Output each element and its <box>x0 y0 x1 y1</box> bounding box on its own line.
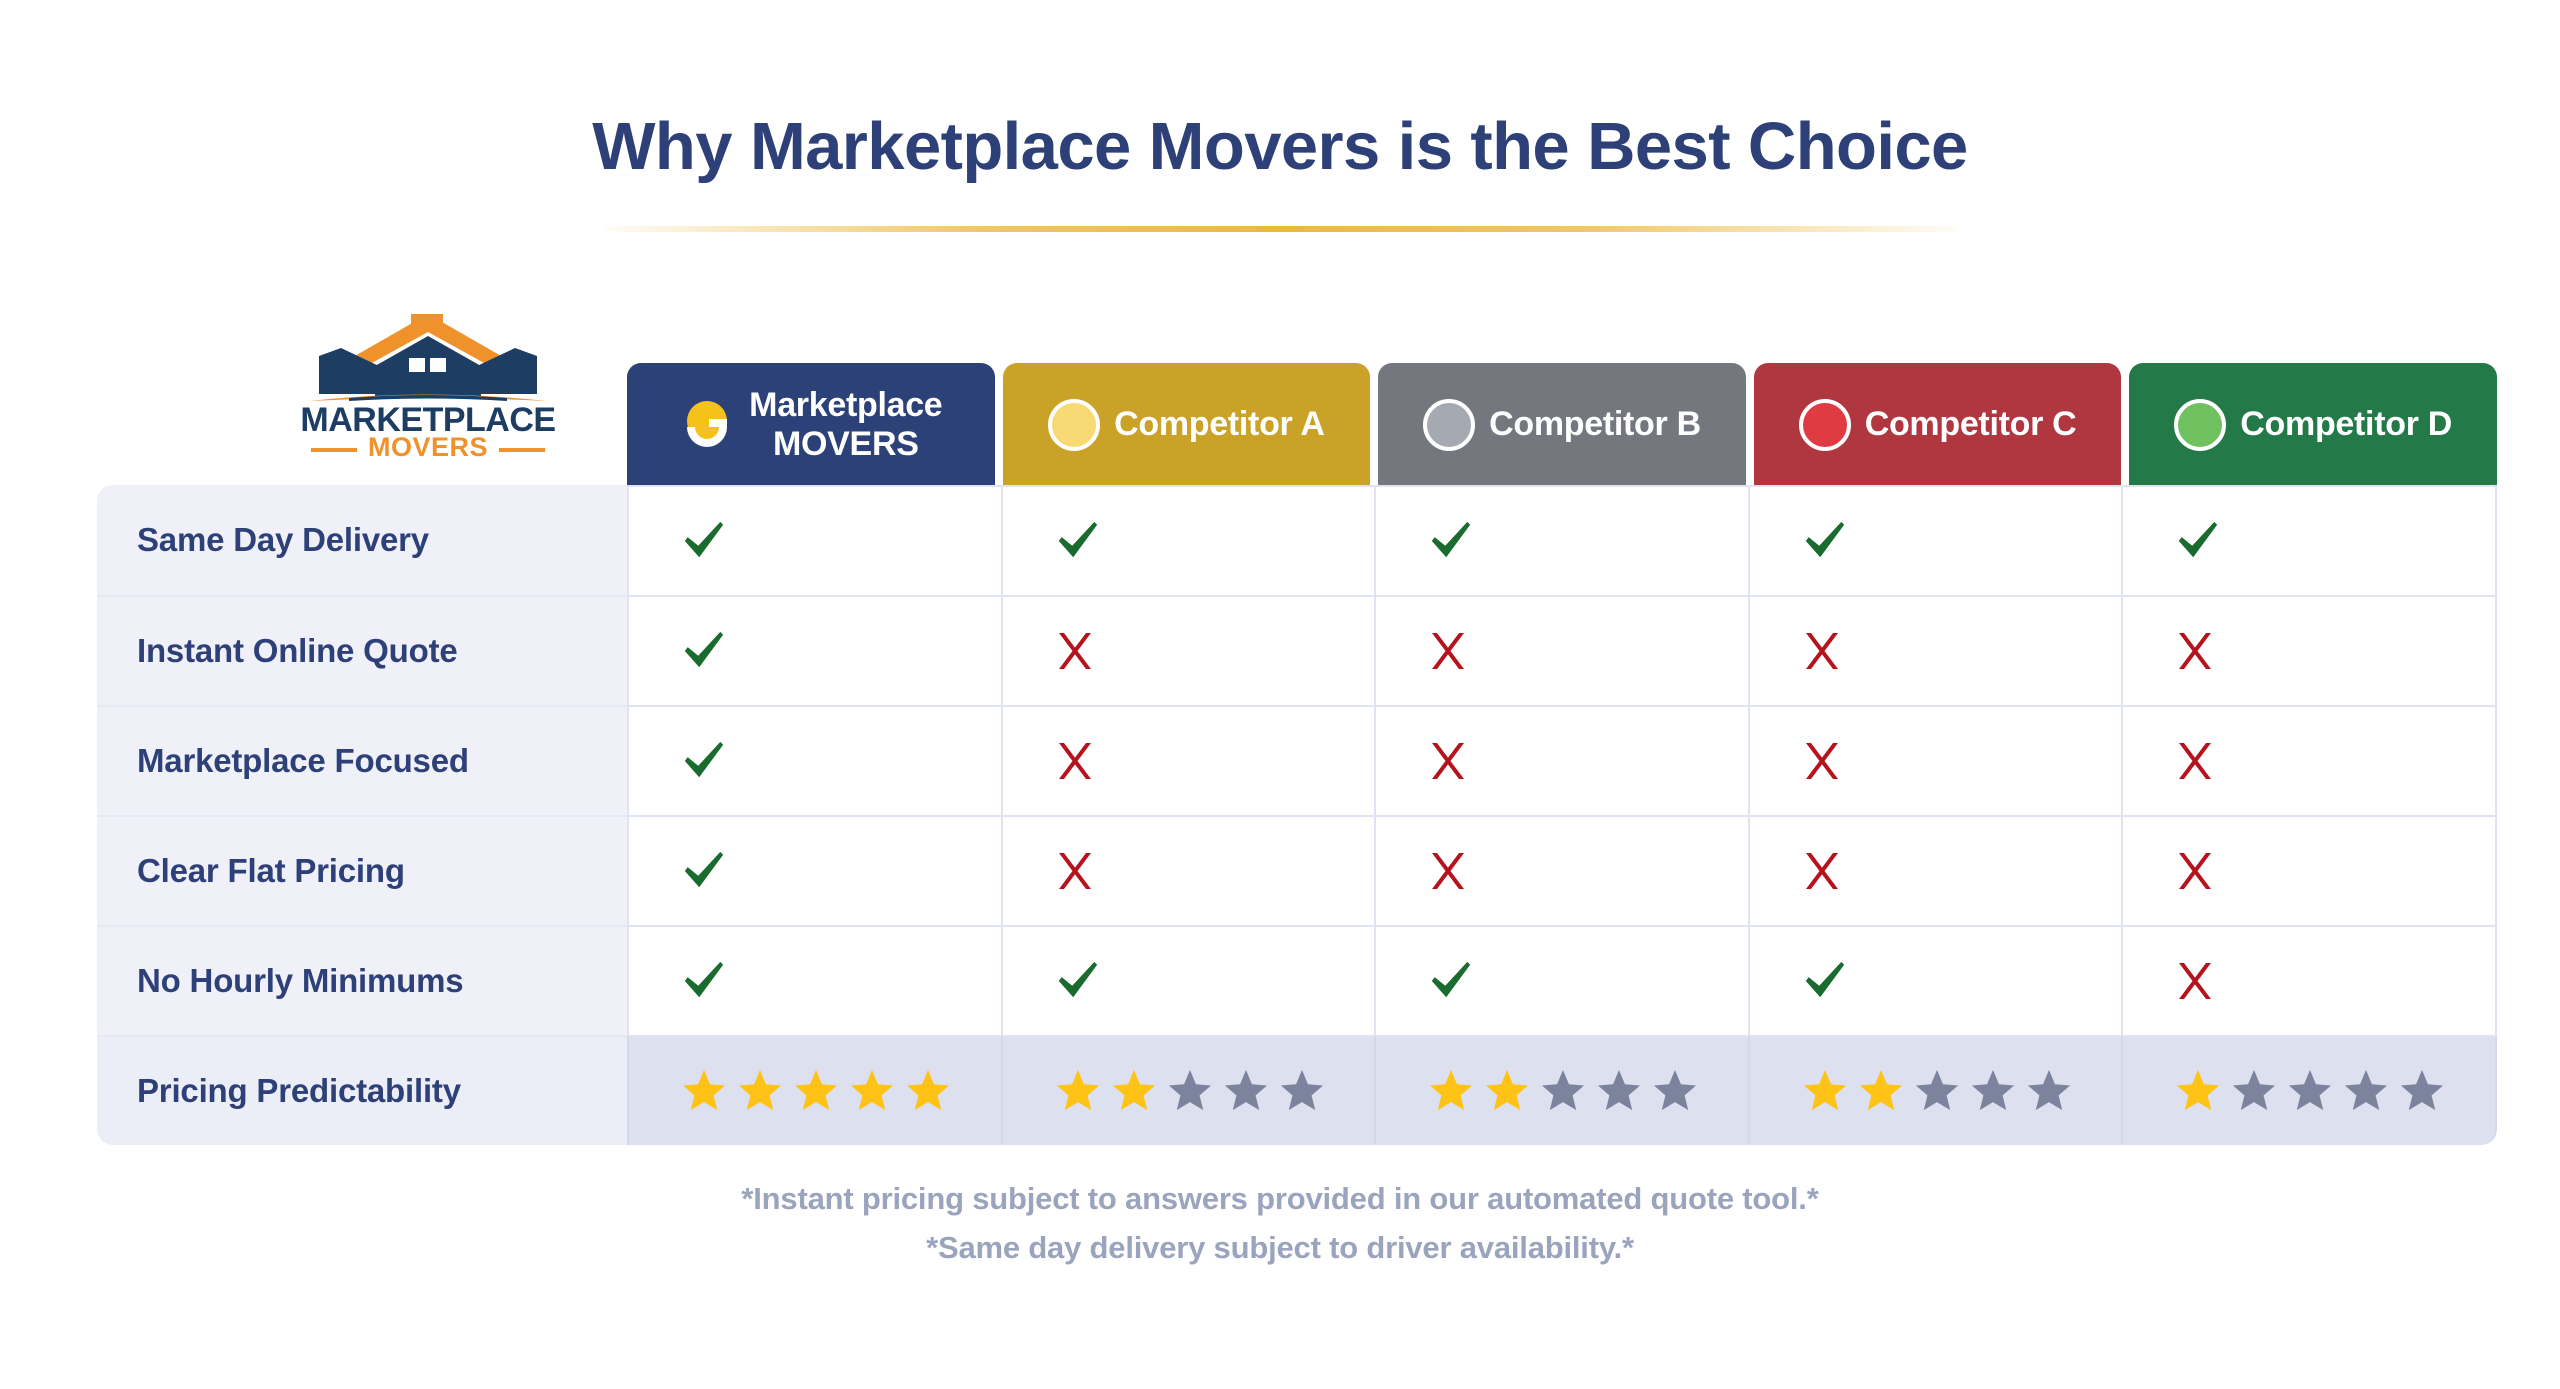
row-cells <box>627 595 2497 705</box>
title-underline-rule <box>603 226 1958 232</box>
star-icon <box>1484 1068 1530 1114</box>
table-row: Clear Flat Pricing <box>97 815 2497 925</box>
cross-icon <box>1428 851 1468 891</box>
row-cells <box>627 705 2497 815</box>
cross-icon <box>1428 741 1468 781</box>
star-icon <box>1540 1068 1586 1114</box>
star-icon <box>1167 1068 1213 1114</box>
cell-marketplace-focused-competitor-d <box>2121 705 2497 815</box>
star-icon <box>1858 1068 1904 1114</box>
row-label-cell-pricing-predictability: Pricing Predictability <box>97 1035 627 1145</box>
check-icon <box>1802 958 1848 1004</box>
row-label-cell-marketplace-focused: Marketplace Focused <box>97 705 627 815</box>
cross-icon <box>1802 741 1842 781</box>
star-icon <box>2343 1068 2389 1114</box>
star-icon <box>2399 1068 2445 1114</box>
table-row: Instant Online Quote <box>97 595 2497 705</box>
comparison-column-headers: MarketplaceMOVERSCompetitor ACompetitor … <box>627 363 2497 486</box>
cross-icon <box>2175 631 2215 671</box>
cell-marketplace-focused-marketplace-movers <box>627 705 1001 815</box>
row-label-cell-clear-flat-pricing: Clear Flat Pricing <box>97 815 627 925</box>
cross-icon <box>1055 631 1095 671</box>
row-label: Same Day Delivery <box>137 521 429 559</box>
star-icon <box>905 1068 951 1114</box>
footnote-delivery: *Same day delivery subject to driver ava… <box>0 1224 2560 1273</box>
cell-pricing-predictability-marketplace-movers <box>627 1035 1001 1145</box>
star-icon <box>1802 1068 1848 1114</box>
column-header-competitor-c[interactable]: Competitor C <box>1754 363 2122 486</box>
column-header-competitor-d[interactable]: Competitor D <box>2129 363 2497 486</box>
star-rating <box>1428 1068 1698 1114</box>
cell-same-day-delivery-competitor-b <box>1374 485 1748 595</box>
cell-no-hourly-minimums-competitor-b <box>1374 925 1748 1035</box>
check-icon <box>1802 518 1848 564</box>
check-icon <box>1055 958 1101 1004</box>
check-icon <box>681 958 727 1004</box>
row-label: Instant Online Quote <box>137 632 458 670</box>
check-icon <box>1428 518 1474 564</box>
cell-clear-flat-pricing-competitor-d <box>2121 815 2497 925</box>
svg-text:MOVERS: MOVERS <box>368 432 488 460</box>
column-header-label: Competitor B <box>1489 405 1701 443</box>
column-header-label-line1: Marketplace <box>749 386 942 424</box>
star-icon <box>1055 1068 1101 1114</box>
star-icon <box>1914 1068 1960 1114</box>
star-icon <box>2287 1068 2333 1114</box>
check-icon <box>681 848 727 894</box>
column-header-marketplace-movers[interactable]: MarketplaceMOVERS <box>627 363 995 486</box>
column-header-label: Competitor D <box>2240 405 2452 443</box>
cell-instant-online-quote-marketplace-movers <box>627 595 1001 705</box>
check-icon <box>1055 518 1101 564</box>
table-row: Marketplace Focused <box>97 705 2497 815</box>
cell-same-day-delivery-marketplace-movers <box>627 485 1001 595</box>
star-rating <box>681 1068 951 1114</box>
cell-pricing-predictability-competitor-d <box>2121 1035 2497 1145</box>
row-label-cell-instant-online-quote: Instant Online Quote <box>97 595 627 705</box>
house-logo-icon: MARKETPLACE MOVERS <box>283 300 573 460</box>
cross-icon <box>2175 741 2215 781</box>
cell-same-day-delivery-competitor-a <box>1001 485 1375 595</box>
star-icon <box>793 1068 839 1114</box>
cell-marketplace-focused-competitor-b <box>1374 705 1748 815</box>
star-icon <box>1111 1068 1157 1114</box>
column-header-competitor-b[interactable]: Competitor B <box>1378 363 1746 486</box>
row-label: Pricing Predictability <box>137 1072 461 1110</box>
circle-icon <box>2174 399 2226 451</box>
star-icon <box>1652 1068 1698 1114</box>
cell-pricing-predictability-competitor-a <box>1001 1035 1375 1145</box>
column-header-competitor-a[interactable]: Competitor A <box>1003 363 1371 486</box>
row-label-cell-no-hourly-minimums: No Hourly Minimums <box>97 925 627 1035</box>
circle-icon <box>1048 399 1100 451</box>
cell-instant-online-quote-competitor-c <box>1748 595 2122 705</box>
star-icon <box>2026 1068 2072 1114</box>
star-rating <box>1802 1068 2072 1114</box>
cell-clear-flat-pricing-marketplace-movers <box>627 815 1001 925</box>
cross-icon <box>1055 741 1095 781</box>
star-icon <box>2231 1068 2277 1114</box>
column-header-label: Competitor A <box>1114 405 1324 443</box>
star-icon <box>849 1068 895 1114</box>
row-cells <box>627 485 2497 595</box>
star-icon <box>681 1068 727 1114</box>
marketplace-movers-logo: MARKETPLACE MOVERS <box>283 300 573 460</box>
footnote-pricing: *Instant pricing subject to answers prov… <box>0 1175 2560 1224</box>
check-icon <box>681 738 727 784</box>
cross-icon <box>1055 851 1095 891</box>
row-cells <box>627 1035 2497 1145</box>
cross-icon <box>1802 631 1842 671</box>
footnotes: *Instant pricing subject to answers prov… <box>0 1175 2560 1273</box>
comparison-infographic: Why Marketplace Movers is the Best Choic… <box>0 0 2560 1389</box>
column-header-label: MarketplaceMOVERS <box>749 386 942 462</box>
star-icon <box>1970 1068 2016 1114</box>
cell-clear-flat-pricing-competitor-b <box>1374 815 1748 925</box>
star-icon <box>1279 1068 1325 1114</box>
row-label: Clear Flat Pricing <box>137 852 405 890</box>
star-icon <box>1428 1068 1474 1114</box>
cell-instant-online-quote-competitor-b <box>1374 595 1748 705</box>
circle-icon <box>1799 399 1851 451</box>
check-icon <box>1428 958 1474 1004</box>
table-row: Same Day Delivery <box>97 485 2497 595</box>
check-icon <box>681 518 727 564</box>
cell-marketplace-focused-competitor-c <box>1748 705 2122 815</box>
star-icon <box>1596 1068 1642 1114</box>
cell-pricing-predictability-competitor-c <box>1748 1035 2122 1145</box>
cell-instant-online-quote-competitor-a <box>1001 595 1375 705</box>
title-block: Why Marketplace Movers is the Best Choic… <box>0 112 2560 232</box>
brand-swoosh-icon <box>679 397 735 453</box>
column-header-label: Competitor C <box>1865 405 2077 443</box>
check-icon <box>2175 518 2221 564</box>
cell-no-hourly-minimums-competitor-c <box>1748 925 2122 1035</box>
page-title: Why Marketplace Movers is the Best Choic… <box>0 112 2560 182</box>
row-cells <box>627 925 2497 1035</box>
table-row: No Hourly Minimums <box>97 925 2497 1035</box>
cross-icon <box>1802 851 1842 891</box>
row-cells <box>627 815 2497 925</box>
cross-icon <box>1428 631 1468 671</box>
circle-icon <box>1423 399 1475 451</box>
star-rating <box>2175 1068 2445 1114</box>
comparison-table: Same Day DeliveryInstant Online QuoteMar… <box>97 485 2497 1145</box>
cell-no-hourly-minimums-competitor-d <box>2121 925 2497 1035</box>
star-icon <box>1223 1068 1269 1114</box>
cell-no-hourly-minimums-competitor-a <box>1001 925 1375 1035</box>
cell-clear-flat-pricing-competitor-a <box>1001 815 1375 925</box>
row-label: No Hourly Minimums <box>137 962 463 1000</box>
cross-icon <box>2175 851 2215 891</box>
star-icon <box>2175 1068 2221 1114</box>
table-row: Pricing Predictability <box>97 1035 2497 1145</box>
row-label-cell-same-day-delivery: Same Day Delivery <box>97 485 627 595</box>
cell-no-hourly-minimums-marketplace-movers <box>627 925 1001 1035</box>
star-rating <box>1055 1068 1325 1114</box>
check-icon <box>681 628 727 674</box>
cell-pricing-predictability-competitor-b <box>1374 1035 1748 1145</box>
cell-same-day-delivery-competitor-c <box>1748 485 2122 595</box>
star-icon <box>737 1068 783 1114</box>
cell-same-day-delivery-competitor-d <box>2121 485 2497 595</box>
column-header-label-line2: MOVERS <box>749 425 942 463</box>
cell-instant-online-quote-competitor-d <box>2121 595 2497 705</box>
cell-marketplace-focused-competitor-a <box>1001 705 1375 815</box>
row-label: Marketplace Focused <box>137 742 469 780</box>
cell-clear-flat-pricing-competitor-c <box>1748 815 2122 925</box>
cross-icon <box>2175 961 2215 1001</box>
